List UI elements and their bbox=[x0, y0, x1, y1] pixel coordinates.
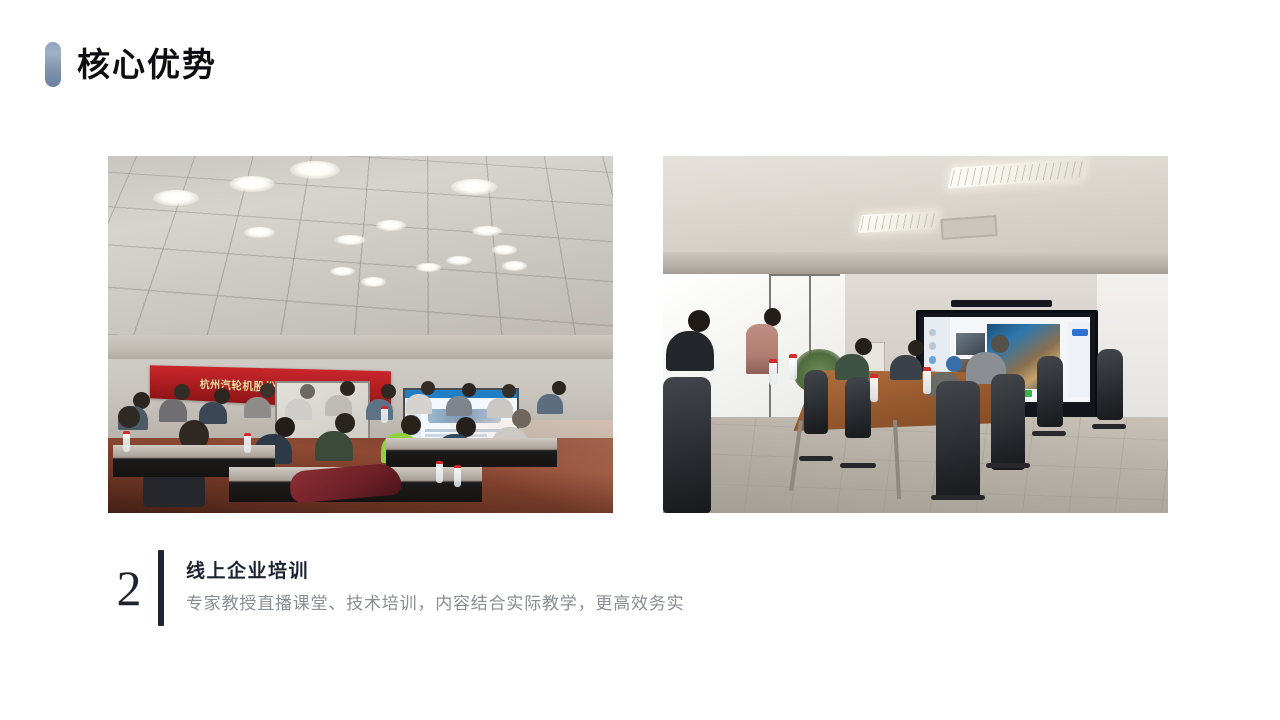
office-chair bbox=[845, 377, 871, 438]
person-head bbox=[855, 338, 872, 355]
person-head bbox=[335, 413, 355, 433]
person-body bbox=[835, 354, 869, 380]
water-bottle bbox=[244, 433, 251, 453]
chair-base bbox=[840, 463, 876, 468]
person-head bbox=[512, 409, 531, 428]
photo-row: 杭州汽轮机股份有限公司 bbox=[108, 156, 1168, 513]
caption-text-group: 线上企业培训 专家教授直播课堂、技术培训，内容结合实际教学，更高效务实 bbox=[186, 548, 684, 628]
classroom-training-photo[interactable]: 杭州汽轮机股份有限公司 bbox=[108, 156, 613, 513]
water-bottle bbox=[923, 367, 931, 394]
water-bottle bbox=[381, 406, 388, 423]
ceiling-vent bbox=[940, 215, 997, 240]
avatar bbox=[929, 342, 936, 350]
chair-base bbox=[931, 495, 985, 500]
person-head bbox=[908, 340, 924, 356]
person-body bbox=[487, 398, 513, 418]
caption-divider bbox=[158, 550, 164, 626]
person-body bbox=[366, 399, 393, 420]
water-bottle bbox=[769, 359, 777, 385]
person-body bbox=[537, 394, 563, 414]
person-body bbox=[666, 331, 714, 371]
online-meeting-photo[interactable] bbox=[663, 156, 1168, 513]
water-bottle bbox=[454, 465, 461, 487]
office-chair bbox=[1097, 349, 1123, 420]
chair-base bbox=[1092, 424, 1126, 429]
chair-base bbox=[799, 456, 833, 461]
person-head bbox=[260, 383, 275, 398]
person-body bbox=[285, 399, 312, 420]
person-head bbox=[502, 384, 516, 398]
office-chair bbox=[936, 381, 980, 499]
person-body bbox=[890, 355, 922, 380]
person-head bbox=[118, 406, 140, 428]
water-bottle bbox=[436, 461, 443, 483]
caption-number: 2 bbox=[100, 548, 158, 628]
person-head bbox=[462, 383, 476, 397]
person-body bbox=[406, 394, 432, 414]
person-body bbox=[244, 397, 271, 418]
desk bbox=[386, 438, 558, 467]
caption-block: 2 线上企业培训 专家教授直播课堂、技术培训，内容结合实际教学，更高效务实 bbox=[100, 548, 684, 628]
person-head bbox=[552, 381, 566, 395]
person-body bbox=[315, 431, 353, 461]
person-head bbox=[946, 356, 962, 372]
presenter-head bbox=[764, 308, 781, 326]
window-mullion bbox=[769, 274, 840, 276]
person-head bbox=[688, 310, 710, 332]
ceiling-beam bbox=[663, 252, 1168, 273]
pill-bullet-icon bbox=[45, 42, 61, 87]
avatar bbox=[929, 329, 936, 337]
person-body bbox=[199, 402, 227, 424]
person-head bbox=[300, 384, 315, 399]
person-head bbox=[401, 415, 421, 435]
tv-camera-bar bbox=[951, 300, 1052, 307]
office-chair bbox=[804, 370, 828, 434]
person-head bbox=[991, 335, 1009, 353]
office-chair bbox=[663, 377, 711, 513]
avatar bbox=[929, 356, 936, 364]
caption-heading: 线上企业培训 bbox=[186, 557, 684, 587]
person-body bbox=[446, 396, 472, 416]
person-head bbox=[174, 384, 190, 400]
join-button[interactable] bbox=[1072, 329, 1089, 336]
person-head bbox=[340, 381, 355, 396]
water-bottle bbox=[123, 431, 130, 452]
office-chair bbox=[991, 374, 1025, 470]
person-head bbox=[421, 381, 435, 395]
chair-base bbox=[986, 463, 1030, 468]
floor-tiles bbox=[663, 417, 1168, 513]
water-bottle bbox=[789, 354, 797, 380]
chair-base bbox=[1032, 431, 1066, 436]
person-head bbox=[381, 384, 396, 399]
office-chair bbox=[1037, 356, 1063, 427]
person-body bbox=[159, 399, 187, 422]
water-bottle bbox=[870, 374, 878, 402]
caption-body: 专家教授直播课堂、技术培训，内容结合实际教学，更高效务实 bbox=[186, 587, 684, 621]
slide-header: 核心优势 bbox=[45, 42, 217, 87]
page-title: 核心优势 bbox=[77, 48, 217, 81]
